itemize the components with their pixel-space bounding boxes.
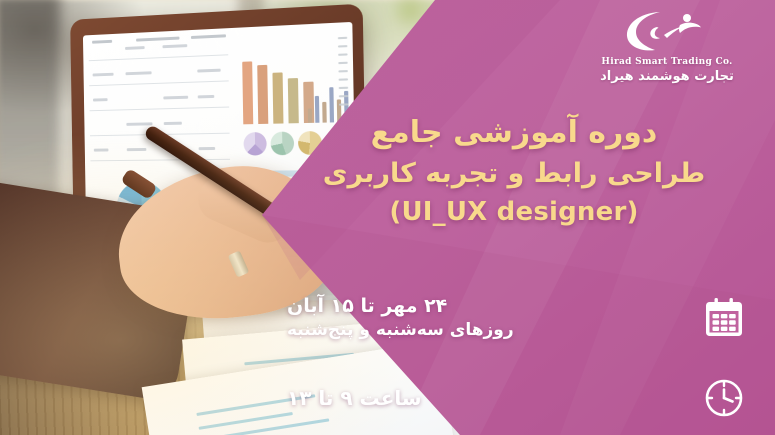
- headline-block: دوره آموزشی جامع طراحی رابط و تجربه کارب…: [279, 112, 749, 232]
- course-date-line-1: ۲۴ مهر تا ۱۵ آبان: [287, 294, 681, 319]
- course-date-row: ۲۴ مهر تا ۱۵ آبان روزهای سه‌شنبه و پنج‌ش…: [281, 292, 751, 344]
- swoosh-person-logo-icon: [577, 8, 757, 54]
- headline-line-3-english: (UI_UX designer): [279, 193, 749, 232]
- clock-icon: [697, 372, 751, 424]
- headline-line-1: دوره آموزشی جامع: [279, 112, 749, 155]
- course-time-text: ساعت ۹ تا ۱۳: [281, 385, 681, 411]
- course-date-text: ۲۴ مهر تا ۱۵ آبان روزهای سه‌شنبه و پنج‌ش…: [281, 294, 681, 342]
- course-time-row: ساعت ۹ تا ۱۳: [281, 372, 751, 424]
- course-time-line-1: ساعت ۹ تا ۱۳: [287, 385, 681, 411]
- banner-content: Hirad Smart Trading Co. تجارت هوشمند هیر…: [0, 0, 775, 435]
- brand-logo[interactable]: Hirad Smart Trading Co. تجارت هوشمند هیر…: [577, 8, 757, 84]
- logo-name-fa: تجارت هوشمند هیراد: [577, 69, 757, 84]
- headline-line-2: طراحی رابط و تجربه کاربری: [279, 155, 749, 193]
- course-date-line-2: روزهای سه‌شنبه و پنج‌شنبه: [287, 319, 681, 341]
- promo-banner: Hirad Smart Trading Co. تجارت هوشمند هیر…: [0, 0, 775, 435]
- logo-name-en: Hirad Smart Trading Co.: [577, 57, 757, 67]
- calendar-icon: [697, 292, 751, 344]
